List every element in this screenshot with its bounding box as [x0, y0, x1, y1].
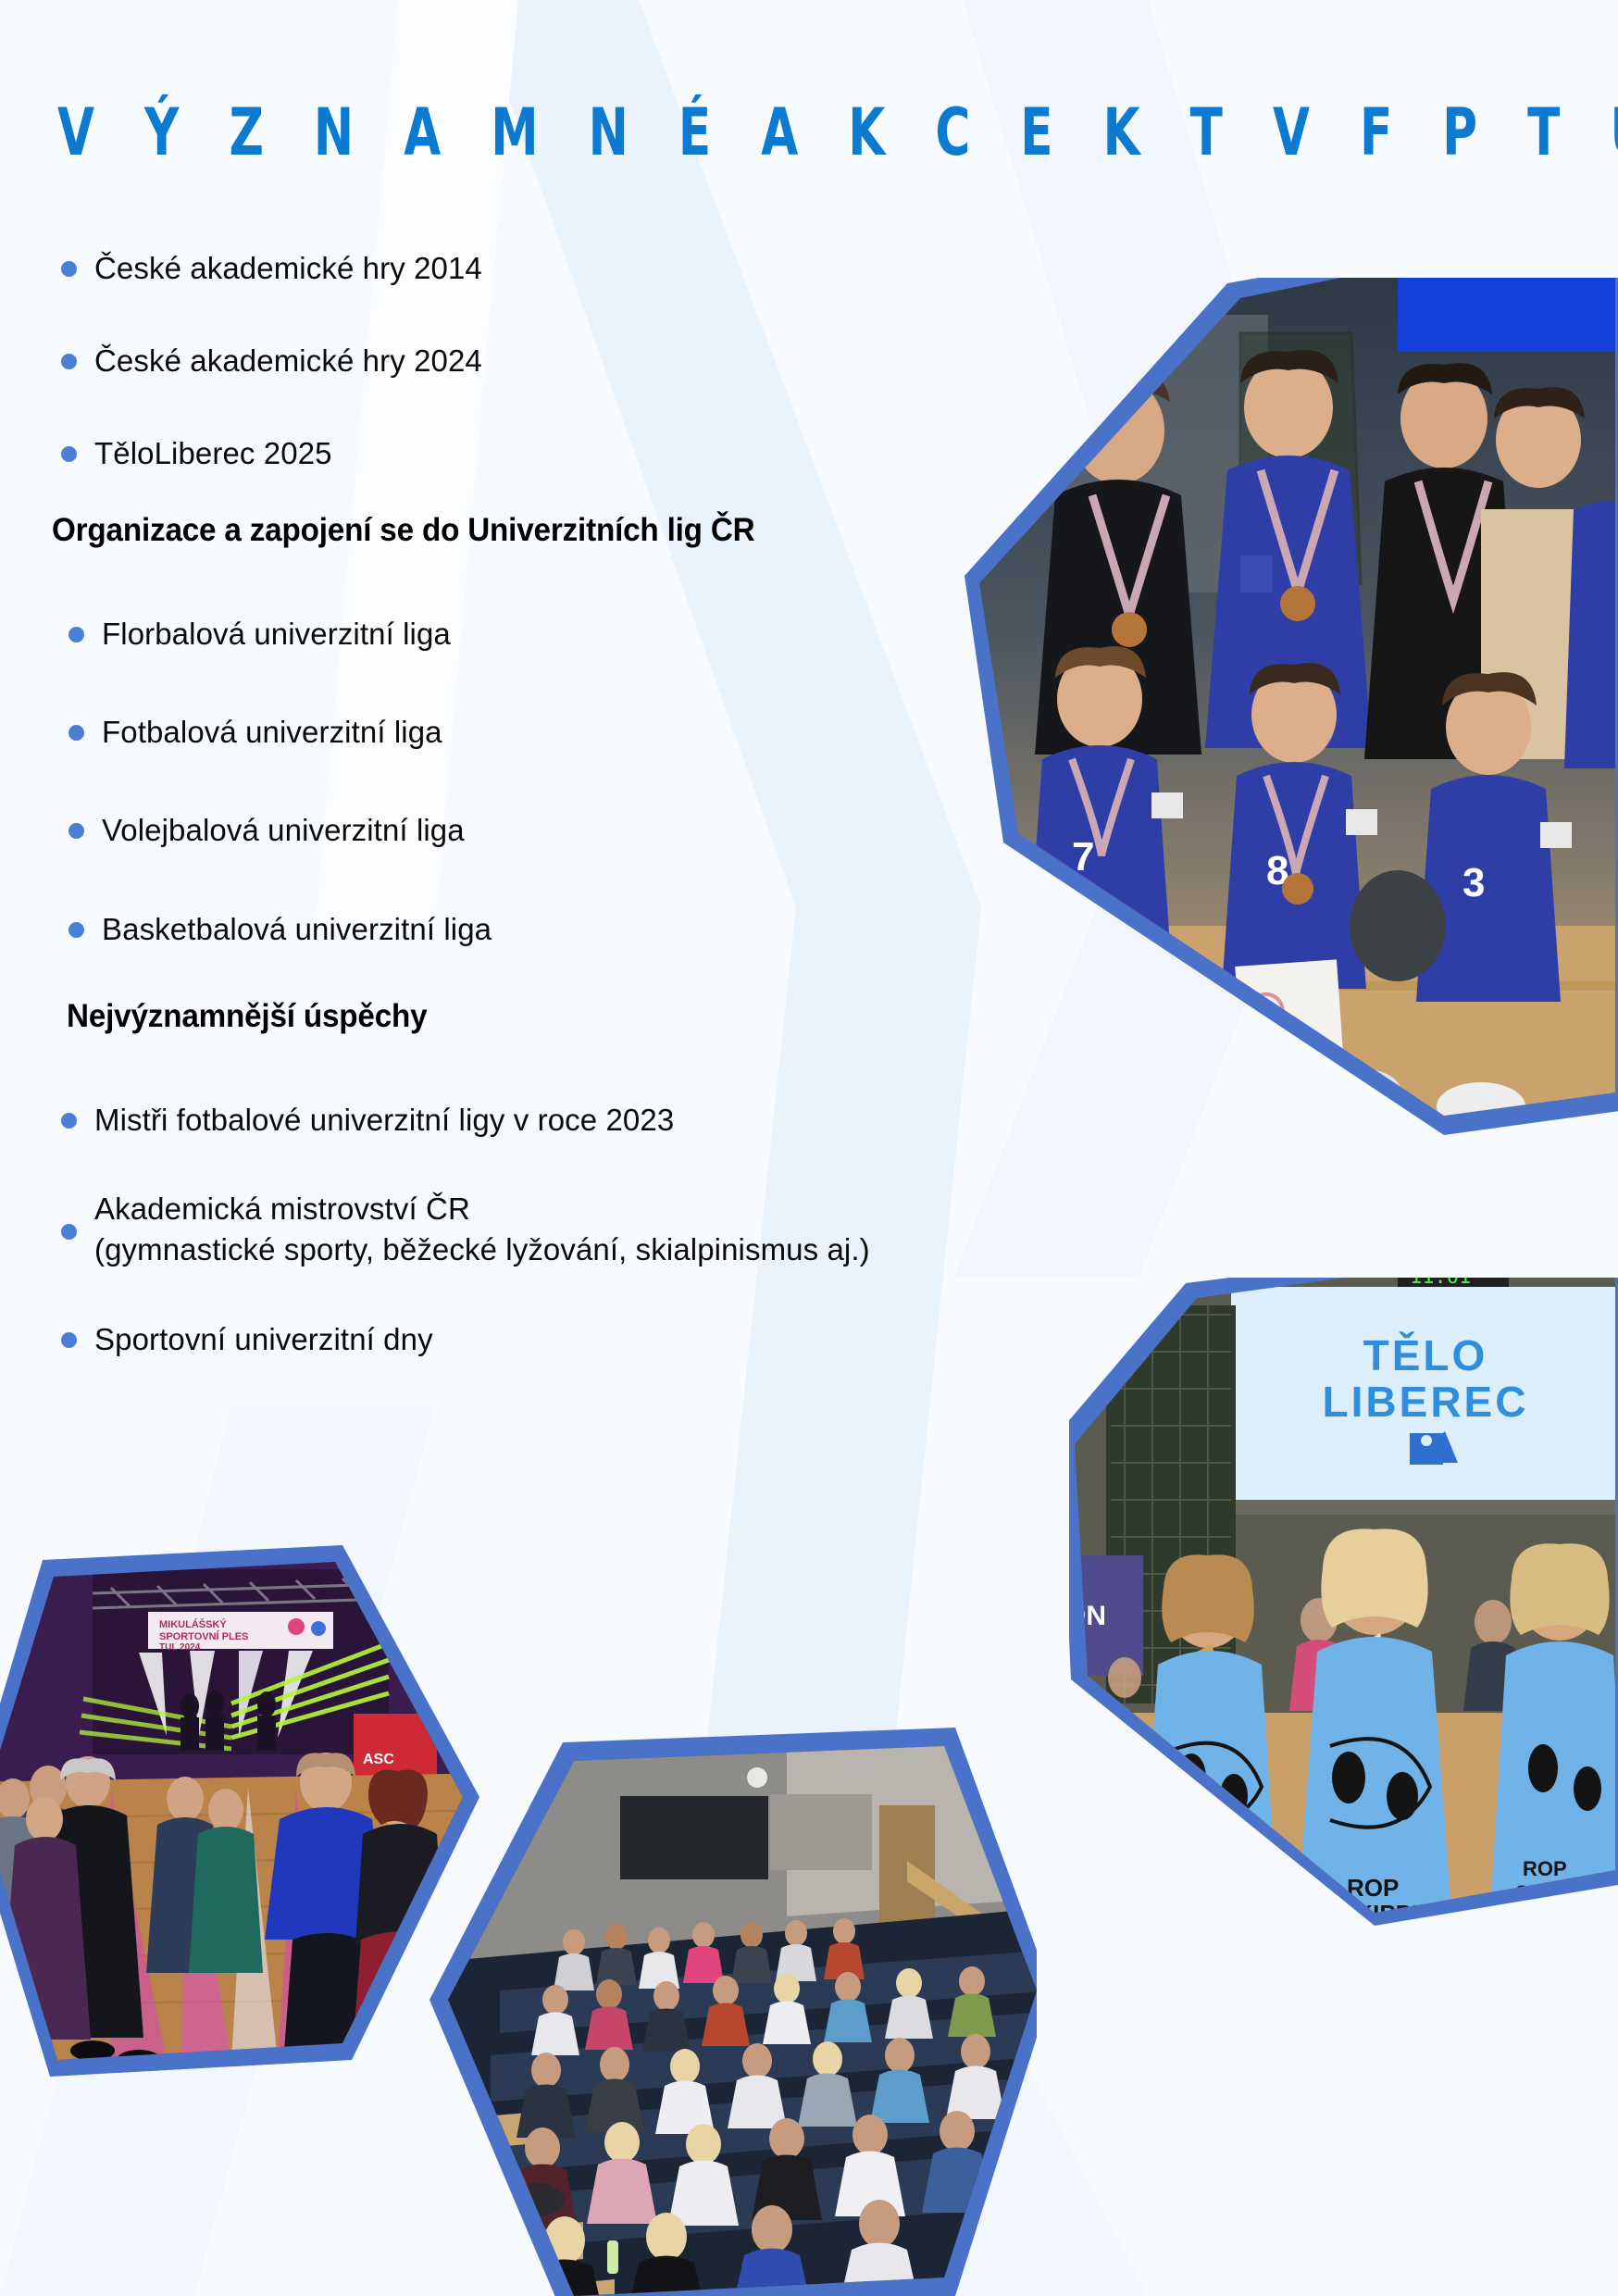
list-item-label: České akademické hry 2024 [94, 343, 482, 378]
svg-text:SPORTOVNÍ PLES: SPORTOVNÍ PLES [159, 1630, 248, 1642]
photo-floorball-team: 7 8 3 [963, 278, 1618, 1139]
leagues-list: Florbalová univerzitní liga Fotbalová un… [44, 614, 877, 950]
bullet-icon [68, 823, 84, 839]
svg-text:3: 3 [1462, 860, 1485, 905]
section-heading-successes: Nejvýznamnější úspěchy [67, 998, 427, 1035]
bullet-icon [68, 627, 84, 643]
list-item: Sportovní univerzitní dny [37, 1319, 1129, 1360]
bullet-icon [61, 354, 77, 369]
list-item-label: Mistři fotbalové univerzitní ligy v roce… [94, 1103, 674, 1137]
slide-canvas: V Ý Z N A M N É A K C E K T V F P T U L … [0, 0, 1618, 2296]
bullet-icon [61, 1224, 77, 1240]
list-item: Florbalová univerzitní liga [44, 614, 877, 655]
list-item: Akademická mistrovství ČR (gymnastické s… [37, 1189, 1129, 1270]
list-item: České akademické hry 2024 [37, 341, 870, 381]
events-list: České akademické hry 2014 České akademic… [37, 248, 870, 475]
bullet-icon [61, 1332, 77, 1348]
list-item-label: České akademické hry 2014 [94, 251, 482, 285]
successes-list: Mistři fotbalové univerzitní ligy v roce… [37, 1100, 1129, 1360]
bullet-icon [68, 922, 84, 938]
list-item-label-line2: (gymnastické sporty, běžecké lyžování, s… [94, 1229, 1129, 1270]
list-item: Basketbalová univerzitní liga [44, 909, 877, 950]
list-item-label: Volejbalová univerzitní liga [102, 813, 465, 847]
bullet-icon [61, 446, 77, 462]
bullet-icon [61, 1113, 77, 1129]
svg-text:ROP: ROP [1523, 1857, 1567, 1880]
list-item: Fotbalová univerzitní liga [44, 712, 877, 753]
list-item: Volejbalová univerzitní liga [44, 810, 877, 851]
bullet-icon [61, 261, 77, 277]
svg-text:TĚLO: TĚLO [1363, 1331, 1488, 1379]
section-heading-leagues: Organizace a zapojení se do Univerzitníc… [52, 512, 754, 549]
list-item-label: Akademická mistrovství ČR [94, 1192, 470, 1226]
bullet-icon [68, 725, 84, 741]
svg-text:LIBEREC: LIBEREC [1323, 1378, 1529, 1426]
list-item-label: TěloLiberec 2025 [94, 436, 332, 470]
list-item: České akademické hry 2014 [37, 248, 870, 289]
list-item-label: Florbalová univerzitní liga [102, 617, 451, 651]
svg-text:11:01: 11:01 [1410, 1278, 1471, 1289]
list-item-label: Fotbalová univerzitní liga [102, 715, 442, 749]
page-title: V Ý Z N A M N É A K C E K T V F P T U L [57, 100, 1618, 165]
svg-text:MIKULÁŠSKÝ: MIKULÁŠSKÝ [159, 1618, 227, 1630]
photo-telo-liberec: 11:01 TĚLO LIBEREC ON [1069, 1278, 1618, 1926]
photo-lecture-hall [389, 1685, 1037, 2296]
list-item-label: Sportovní univerzitní dny [94, 1322, 433, 1356]
list-item-label: Basketbalová univerzitní liga [102, 912, 492, 946]
list-item: TěloLiberec 2025 [37, 433, 870, 474]
